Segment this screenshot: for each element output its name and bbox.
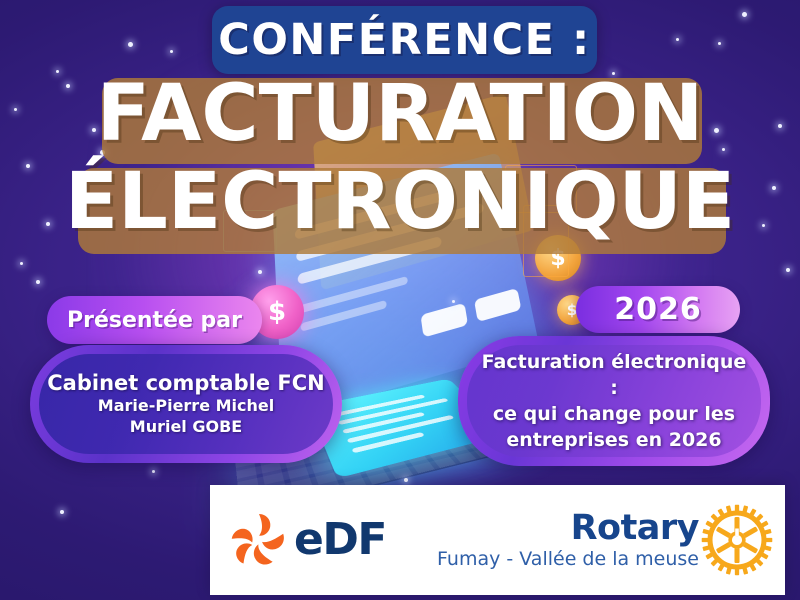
year-badge-label: 2026 [614, 292, 702, 327]
rotary-wordmark: Rotary [571, 509, 699, 548]
topic-card-inner: Facturation électronique : ce qui change… [467, 345, 761, 457]
presenter-firm-name: Cabinet comptable FCN [47, 371, 324, 395]
topic-line-3: entreprises en 2026 [481, 427, 747, 453]
topic-description: Facturation électronique : ce qui change… [481, 349, 747, 454]
edf-logo: eDF [228, 509, 386, 571]
rotary-gear-icon [701, 504, 773, 576]
rotary-club-name: Fumay - Vallée de la meuse [437, 549, 699, 570]
page-title-line2: ÉLECTRONIQUE [0, 163, 800, 241]
conference-poster: $ $ $ [0, 0, 800, 600]
presenter-card: Cabinet comptable FCN Marie-Pierre Miche… [30, 345, 342, 463]
presented-by-badge: Présentée par [47, 296, 262, 344]
page-title-line1: FACTURATION [0, 75, 800, 153]
rotary-text-group: Rotary Fumay - Vallée de la meuse [437, 509, 699, 570]
conference-header-label: CONFÉRENCE : [218, 15, 590, 65]
topic-line-1: Facturation électronique : [481, 349, 747, 401]
conference-header-badge: CONFÉRENCE : [212, 6, 597, 74]
edf-wordmark: eDF [294, 518, 386, 562]
presenter-person-2: Muriel GOBE [130, 417, 242, 437]
topic-line-2: ce qui change pour les [481, 401, 747, 427]
presenter-person-1: Marie-Pierre Michel [98, 396, 274, 416]
presenter-card-inner: Cabinet comptable FCN Marie-Pierre Miche… [39, 354, 333, 454]
sponsor-logo-bar: eDF Rotary Fumay - Vallée de la meuse [210, 485, 785, 595]
year-badge: 2026 [576, 286, 740, 333]
rotary-logo: Rotary Fumay - Vallée de la meuse [437, 504, 773, 576]
topic-card: Facturation électronique : ce qui change… [458, 336, 770, 466]
edf-sun-pinwheel-icon [228, 509, 290, 571]
presented-by-label: Présentée par [67, 308, 242, 333]
